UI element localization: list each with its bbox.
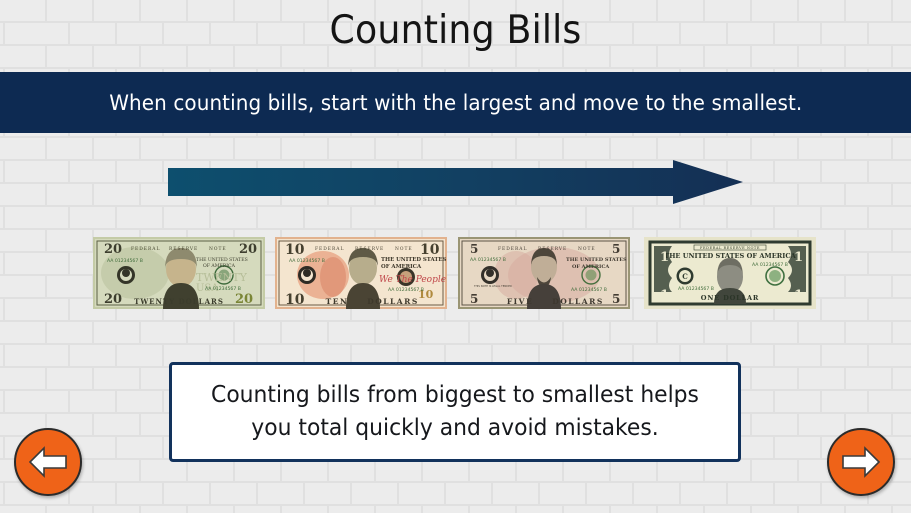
svg-text:AA 01234567 B: AA 01234567 B [107,258,143,264]
svg-text:RESERVE: RESERVE [169,247,198,252]
svg-text:ONE DOLLAR: ONE DOLLAR [701,294,759,302]
svg-text:OF AMERICA: OF AMERICA [381,264,422,270]
svg-text:OF AMERICA: OF AMERICA [203,263,236,269]
slide-canvas: Counting Bills When counting bills, star… [0,0,911,513]
svg-text:AA 01234567 B: AA 01234567 B [571,287,607,293]
svg-text:NOTE: NOTE [209,247,227,252]
svg-text:THIS NOTE IS LEGAL TENDER: THIS NOTE IS LEGAL TENDER [474,284,512,288]
arrow-left-icon [28,444,68,480]
svg-text:5: 5 [612,242,620,256]
bill-1[interactable]: FEDERAL RESERVE NOTE THE UNITED STATES O… [644,237,816,309]
svg-text:AA 01234567 B: AA 01234567 B [205,286,241,292]
arrow-right-icon [168,160,743,204]
svg-text:We The People: We The People [379,275,446,285]
svg-text:1: 1 [794,288,803,303]
bill-20[interactable]: 20 20 20 20 FEDERAL RESERVE NOTE THE UNI… [93,237,265,309]
svg-text:FEDERAL RESERVE NOTE: FEDERAL RESERVE NOTE [700,246,760,250]
instruction-banner: When counting bills, start with the larg… [0,72,911,133]
info-box: Counting bills from biggest to smallest … [169,362,741,462]
info-box-text: Counting bills from biggest to smallest … [186,379,724,446]
svg-text:DOLLARS: DOLLARS [367,297,419,306]
instruction-banner-text: When counting bills, start with the larg… [109,91,802,115]
svg-text:RESERVE: RESERVE [538,247,567,252]
bill-10[interactable]: 10 10 10 10 FEDERAL RESERVE NOTE THE UNI… [275,237,447,309]
svg-text:5: 5 [612,292,620,306]
svg-text:10: 10 [285,242,305,258]
svg-text:FEDERAL: FEDERAL [131,247,160,252]
svg-text:OF AMERICA: OF AMERICA [572,264,609,270]
svg-text:TWENTY DOLLARS: TWENTY DOLLARS [134,297,224,306]
arrow-right-icon [841,444,881,480]
svg-text:5: 5 [470,242,478,256]
svg-text:FEDERAL: FEDERAL [498,247,527,252]
svg-text:5: 5 [470,292,478,306]
svg-text:C: C [682,272,688,281]
svg-text:NOTE: NOTE [395,247,413,252]
svg-text:20: 20 [104,292,122,307]
svg-text:NOTE: NOTE [578,247,596,252]
svg-text:TEN: TEN [326,297,349,306]
bill-5[interactable]: 5 5 5 5 FEDERAL RESERVE NOTE THE UNITED … [458,237,630,309]
svg-text:1: 1 [794,250,803,265]
svg-text:DOLLARS: DOLLARS [552,297,604,306]
svg-text:10: 10 [420,242,440,258]
svg-text:1: 1 [660,250,669,265]
svg-text:20: 20 [235,292,253,307]
svg-text:THE UNITED STATES: THE UNITED STATES [196,257,248,263]
svg-text:THE UNITED STATES: THE UNITED STATES [566,257,627,263]
svg-text:FEDERAL: FEDERAL [315,247,344,252]
page-title: Counting Bills [32,8,879,53]
next-button[interactable] [827,428,895,496]
svg-text:10: 10 [285,292,305,308]
svg-text:20: 20 [104,242,122,257]
svg-text:AA 01234567 B: AA 01234567 B [678,286,714,292]
svg-text:AA 01234567 B: AA 01234567 B [752,262,788,268]
svg-text:AA 01234567 B: AA 01234567 B [470,257,506,263]
svg-text:AA 01234567 B: AA 01234567 B [289,258,325,264]
previous-button[interactable] [14,428,82,496]
svg-text:AA 01234567 B: AA 01234567 B [388,287,424,293]
bills-row: 20 20 20 20 FEDERAL RESERVE NOTE THE UNI… [0,237,911,311]
svg-text:1: 1 [660,288,669,303]
svg-text:20: 20 [239,242,257,257]
direction-arrow [168,160,743,204]
svg-text:THE UNITED STATES: THE UNITED STATES [381,257,447,263]
svg-text:FIVE: FIVE [507,297,533,306]
svg-text:RESERVE: RESERVE [355,247,384,252]
